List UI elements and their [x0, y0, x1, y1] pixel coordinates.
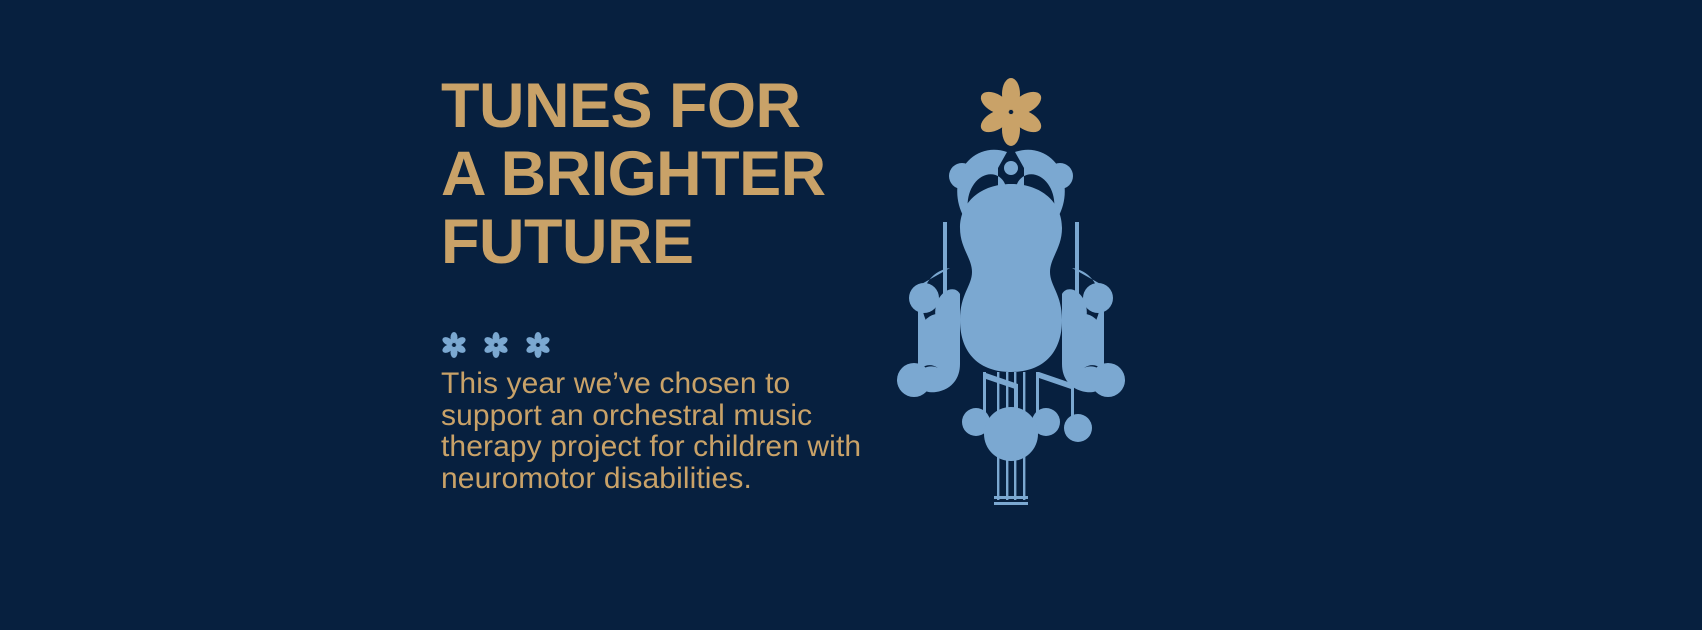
left-f-hole-note	[897, 268, 960, 397]
violin-music-illustration	[866, 72, 1156, 512]
flower-asterisk-icon	[483, 332, 509, 358]
tailpiece-circle	[984, 407, 1038, 461]
flower-asterisk-icon	[525, 332, 551, 358]
top-flower-icon	[977, 78, 1045, 146]
page-title: TUNES FOR A BRIGHTER FUTURE	[441, 72, 861, 276]
promo-banner: TUNES FOR A BRIGHTER FUTURE	[0, 0, 1702, 630]
text-block: TUNES FOR A BRIGHTER FUTURE	[441, 72, 861, 276]
violin-body	[960, 184, 1062, 372]
body-copy: This year we’ve chosen to support an orc…	[441, 368, 871, 494]
flower-asterisk-icon	[441, 332, 467, 358]
right-f-hole-note	[1062, 268, 1125, 397]
asterisk-flower-divider	[441, 332, 551, 358]
